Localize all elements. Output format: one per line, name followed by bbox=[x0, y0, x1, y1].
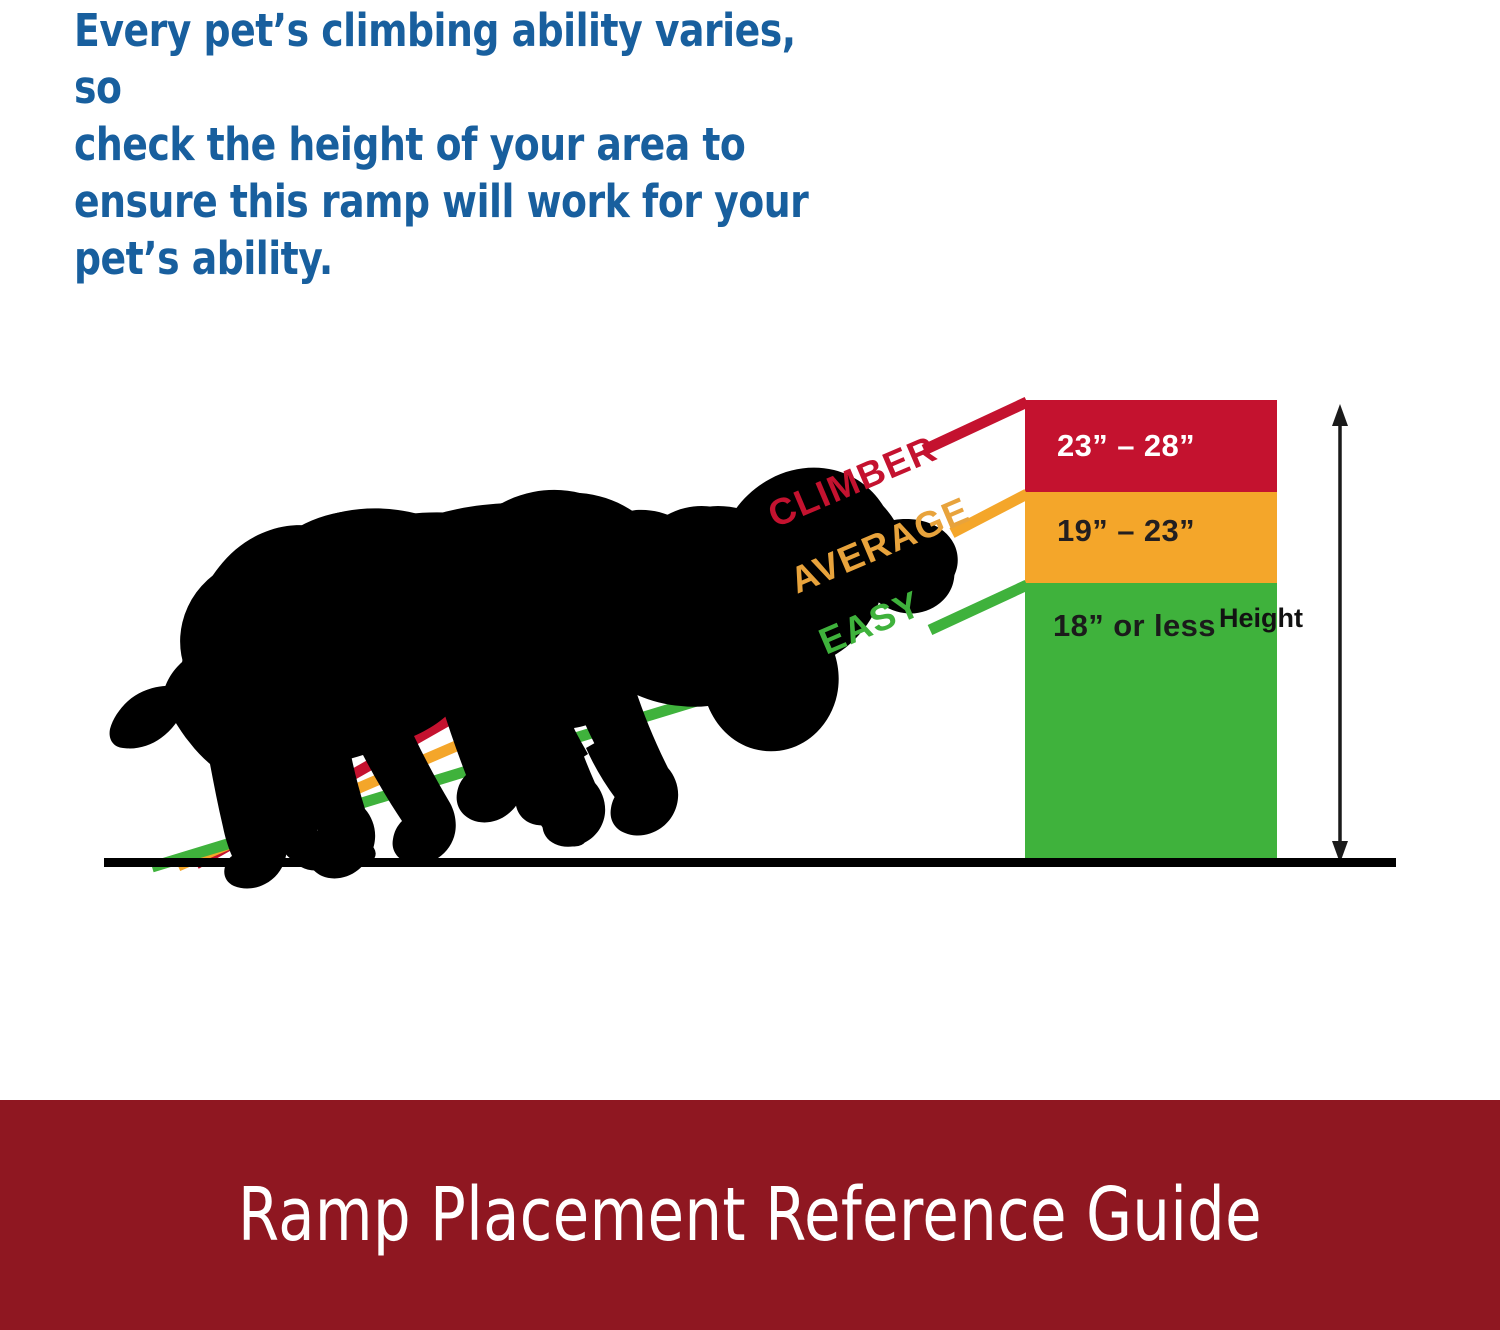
ground-line bbox=[104, 858, 1396, 867]
ramp-diagram-svg: CLIMBER AVERAGE EASY 23” – 28” 19” – 23”… bbox=[0, 0, 1500, 1100]
height-label: Height bbox=[1219, 603, 1303, 633]
height-dimension-arrow bbox=[1332, 404, 1348, 863]
band-label-climber: 23” – 28” bbox=[1057, 428, 1195, 463]
bottom-banner: Ramp Placement Reference Guide bbox=[0, 1100, 1500, 1330]
ramp-diagram: CLIMBER AVERAGE EASY 23” – 28” 19” – 23”… bbox=[0, 0, 1500, 1100]
band-label-average: 19” – 23” bbox=[1057, 513, 1195, 548]
band-label-easy: 18” or less bbox=[1053, 608, 1216, 643]
banner-title: Ramp Placement Reference Guide bbox=[238, 1172, 1262, 1258]
infographic-page: Every pet’s climbing ability varies, so … bbox=[0, 0, 1500, 1330]
